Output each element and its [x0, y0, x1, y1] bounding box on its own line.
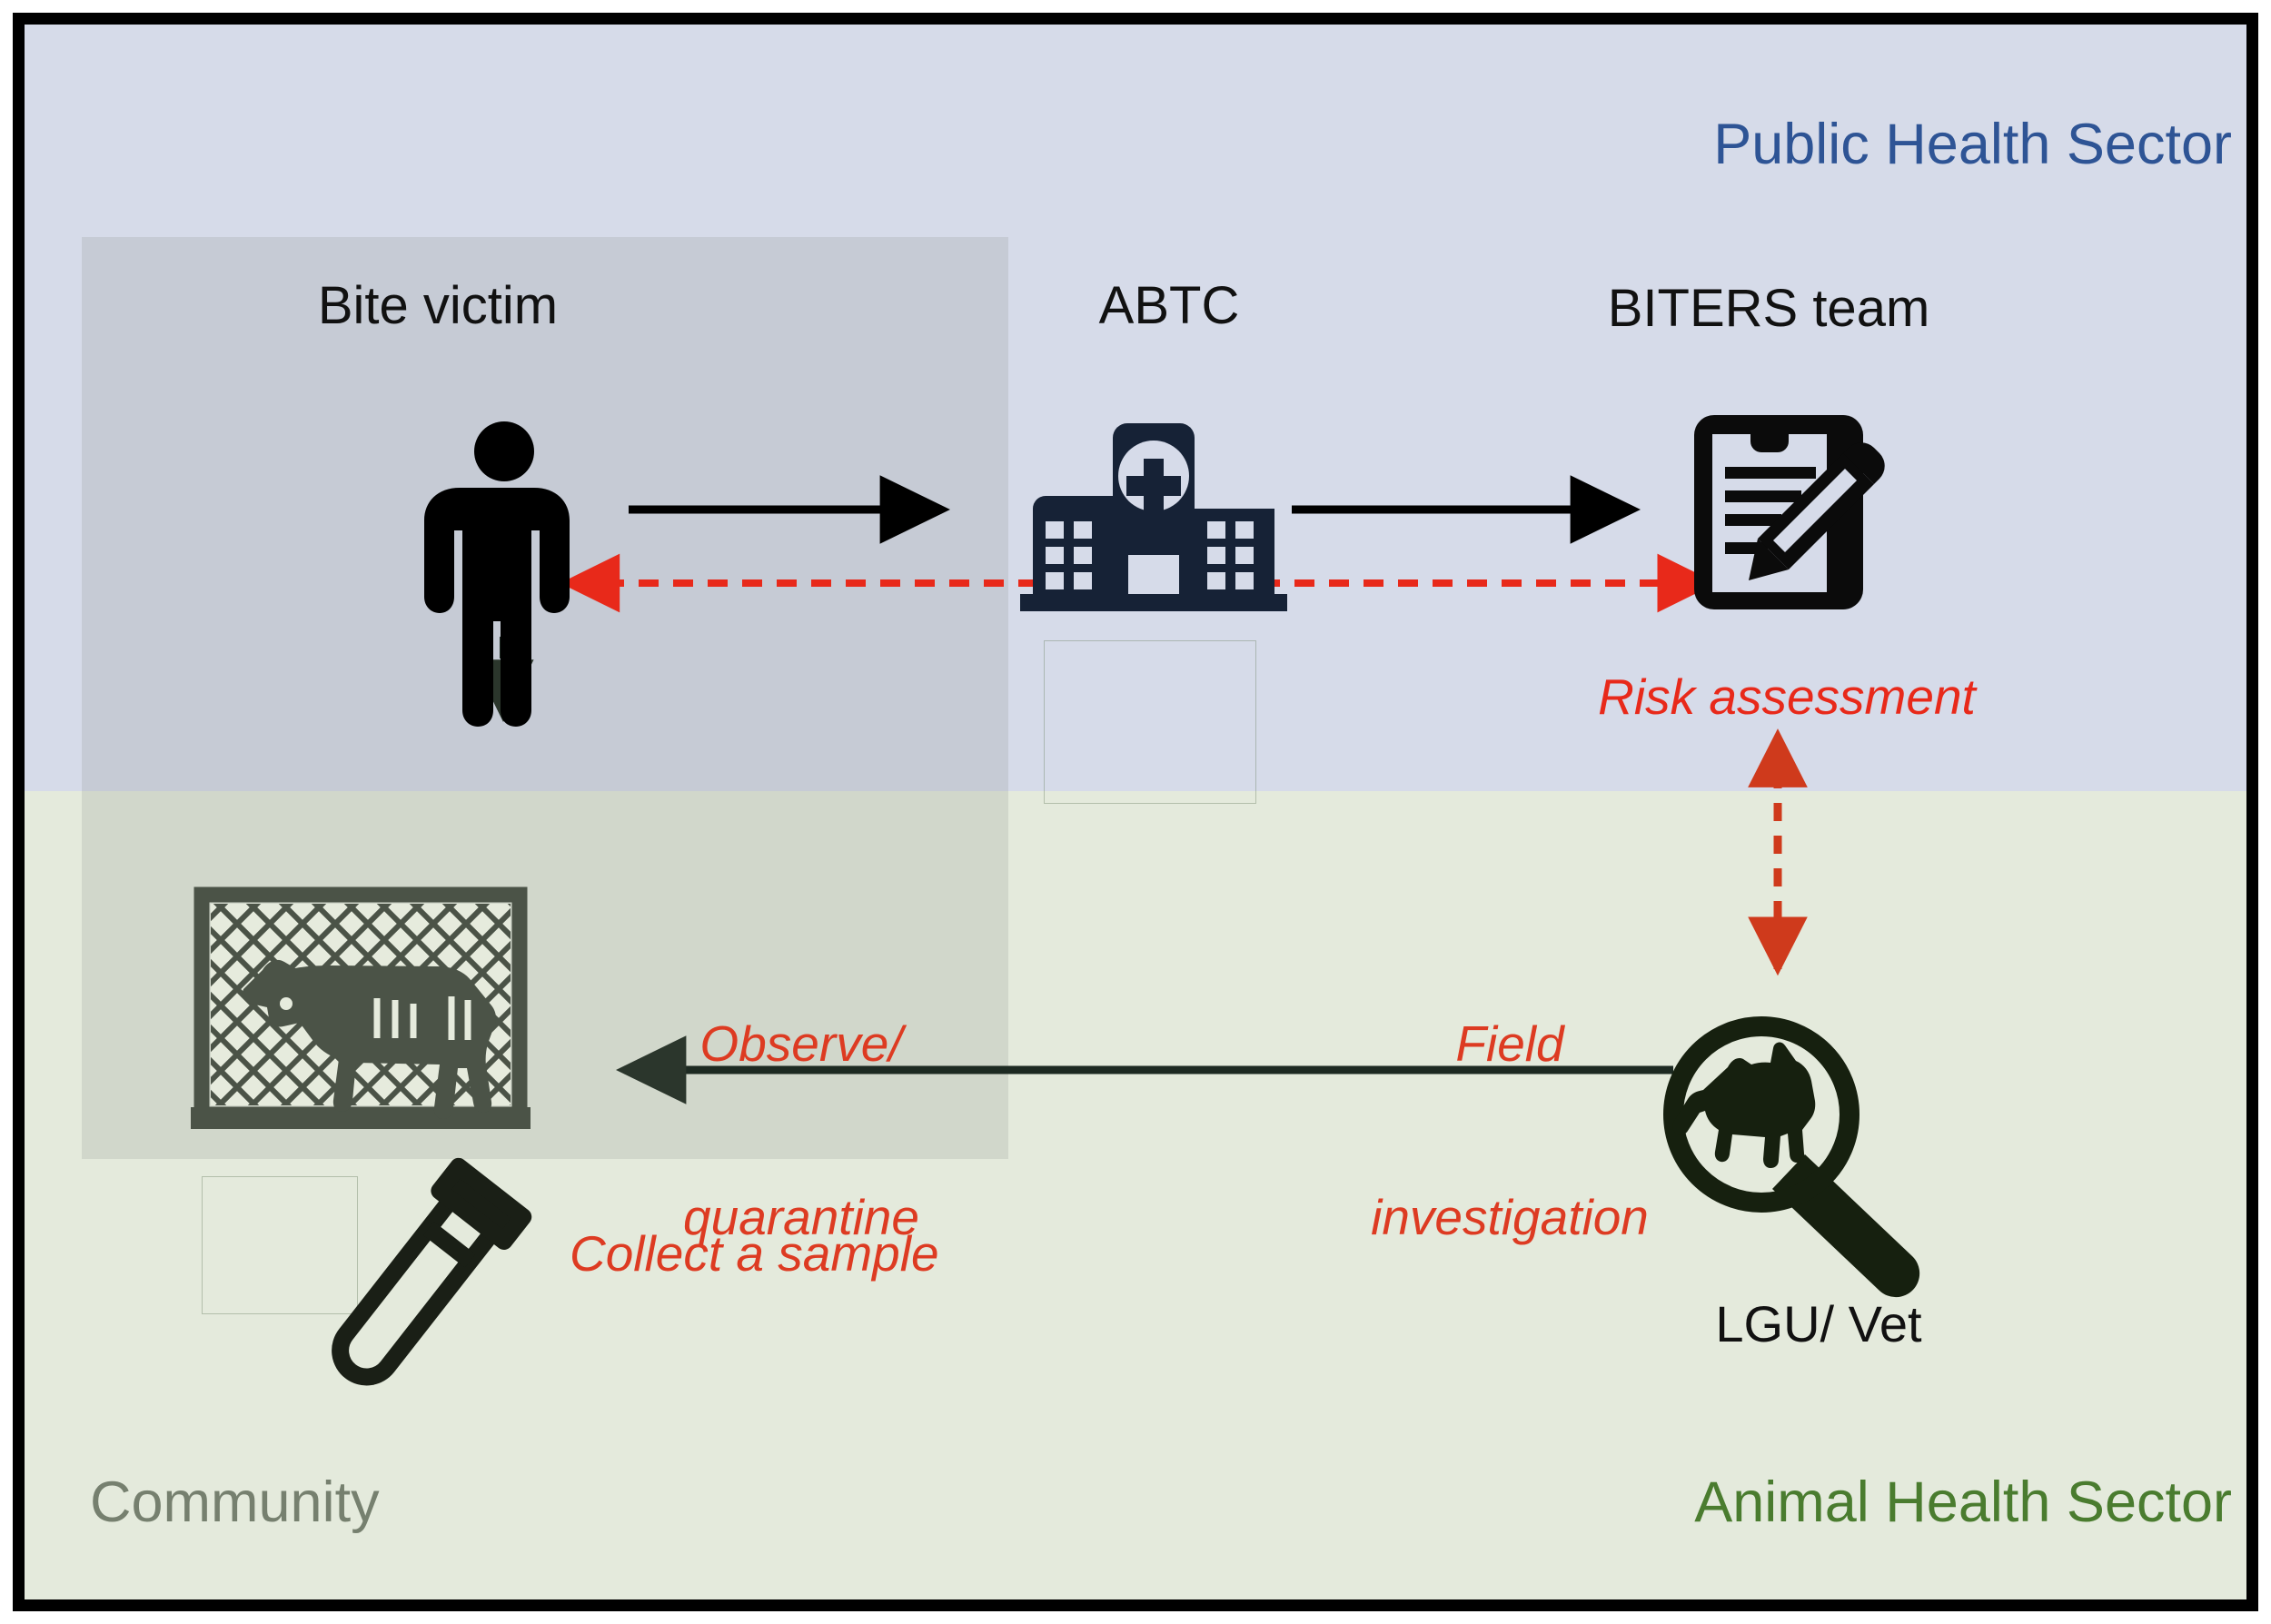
- clipboard-pencil-icon: [1694, 415, 1885, 609]
- hospital-icon: [1020, 423, 1287, 611]
- community-label: Community: [90, 1473, 380, 1533]
- flow-label-risk-assessment: Risk assessment: [1487, 671, 2087, 723]
- flow-label-observe-quarantine: Observe/ quarantine: [588, 899, 1015, 1362]
- diagram-frame: Public Health Sector Animal Health Secto…: [13, 13, 2258, 1611]
- public-health-sector-label: Public Health Sector: [1713, 115, 2232, 175]
- dog-in-cage-icon: [191, 895, 531, 1129]
- person-icon: [424, 421, 570, 727]
- node-label-abtc: ABTC: [987, 279, 1351, 333]
- flow-label-field-line2: investigation: [1251, 1189, 1769, 1247]
- diagram-graphics-layer: [25, 25, 2246, 1599]
- node-label-bite-victim: Bite victim: [179, 279, 697, 333]
- animal-health-sector-label: Animal Health Sector: [1694, 1473, 2232, 1533]
- flow-label-collect-a-sample: Collect a sample: [570, 1228, 1115, 1280]
- flow-label-field-line1: Field: [1251, 1015, 1769, 1074]
- flow-label-observe-line1: Observe/: [588, 1015, 1015, 1074]
- flow-label-field-investigation: Field investigation: [1251, 899, 1769, 1362]
- node-label-biters-team: BITERS team: [1469, 282, 2068, 336]
- test-tube-icon: [318, 1166, 522, 1396]
- diagram-canvas: Public Health Sector Animal Health Secto…: [0, 0, 2271, 1624]
